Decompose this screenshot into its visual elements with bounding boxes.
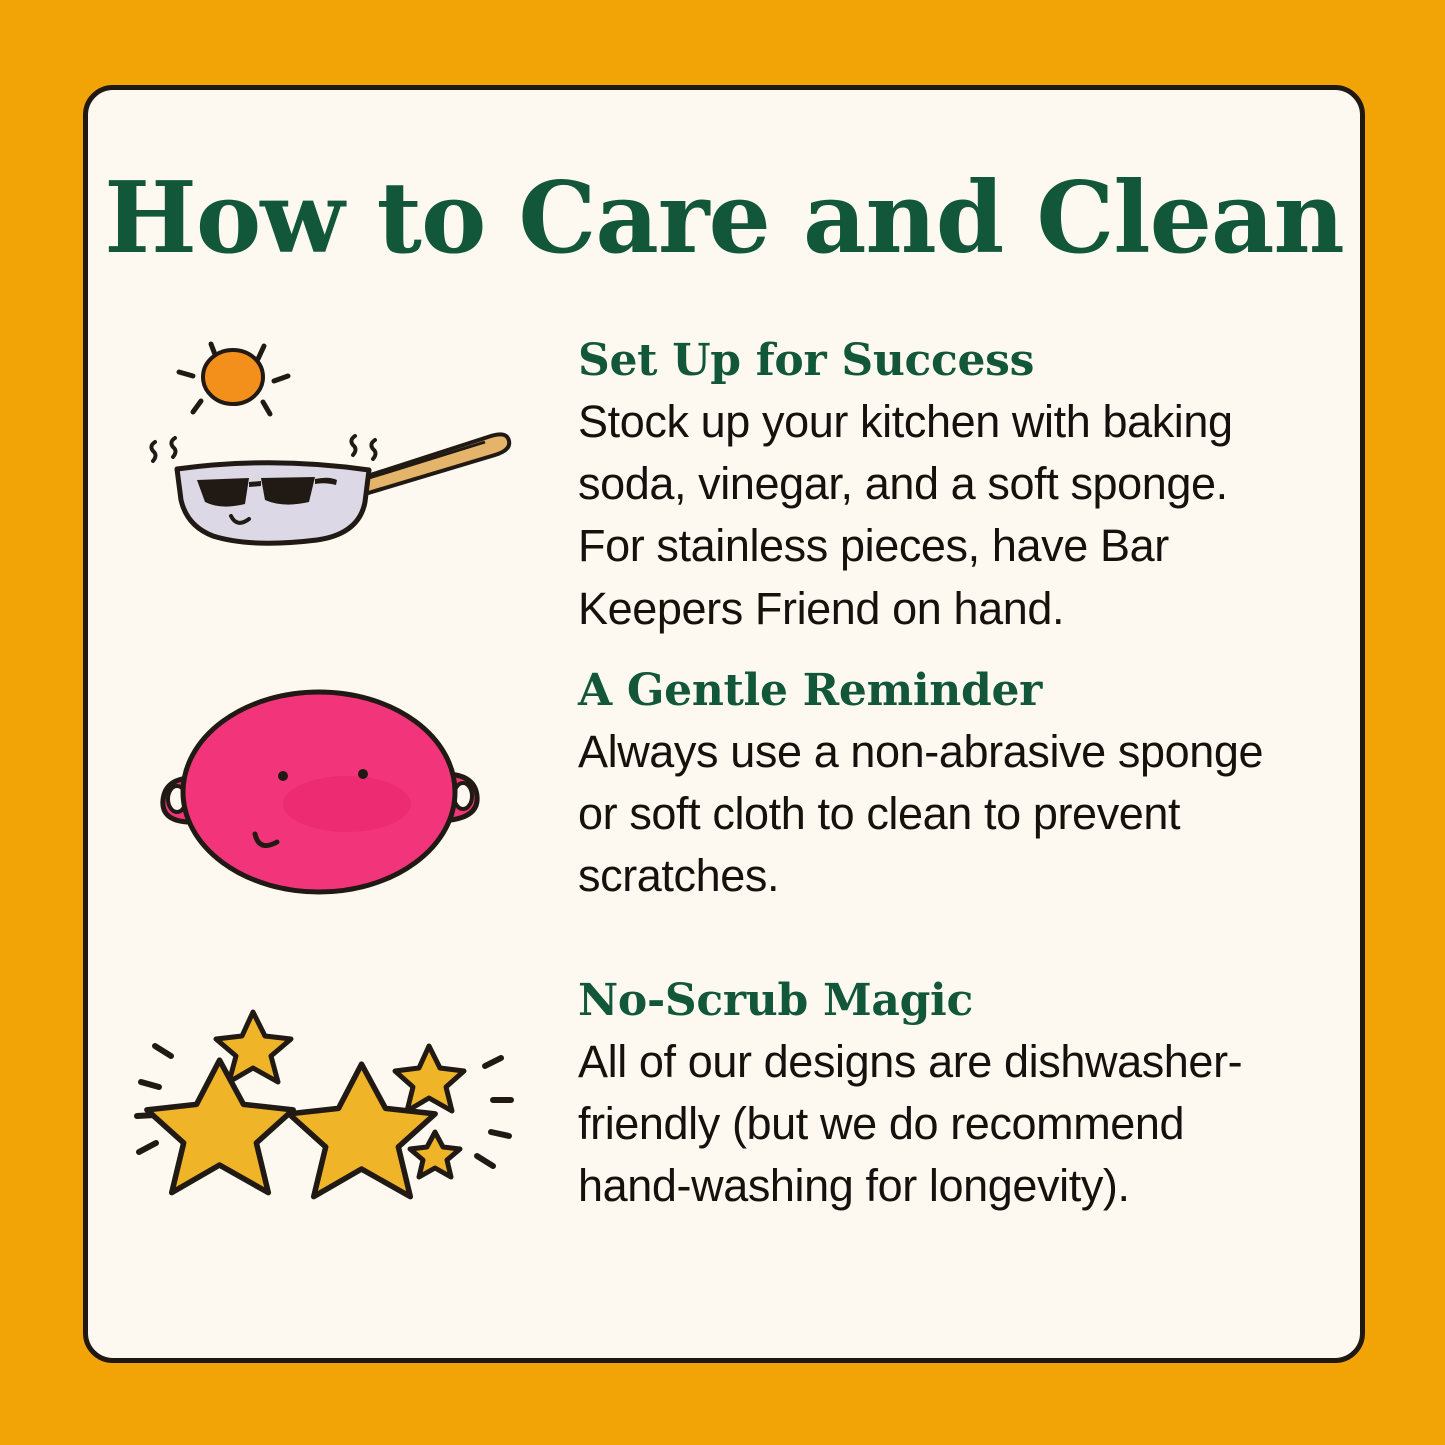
illustration-stars — [88, 970, 578, 1214]
section-heading: A Gentle Reminder — [578, 666, 1300, 715]
poster-canvas: How to Care and Clean — [0, 0, 1445, 1445]
star-tiny-lower-right-icon — [410, 1132, 460, 1177]
section-body: Stock up your kitchen with baking soda, … — [578, 391, 1300, 639]
sparkle-dashes-left-icon — [137, 1046, 171, 1152]
pan-body-icon — [177, 463, 369, 543]
sparkling-gold-stars-icon — [133, 1004, 533, 1214]
illustration-frying-pan — [88, 330, 578, 580]
pot-eye-left-icon — [278, 771, 288, 781]
section-copy: Set Up for Success Stock up your kitchen… — [578, 330, 1360, 640]
star-small-upper-right-icon — [395, 1046, 464, 1111]
section-body: All of our designs are dishwasher-friend… — [578, 1031, 1300, 1217]
page-title: How to Care and Clean — [88, 168, 1360, 271]
pink-oval-pot-with-face-icon — [133, 666, 533, 916]
section-copy: A Gentle Reminder Always use a non-abras… — [578, 660, 1360, 908]
list-item: Set Up for Success Stock up your kitchen… — [88, 330, 1360, 640]
care-instruction-list: Set Up for Success Stock up your kitchen… — [88, 330, 1360, 1260]
section-heading: No-Scrub Magic — [578, 976, 1300, 1025]
steam-squiggle-right-icon — [351, 436, 375, 459]
section-copy: No-Scrub Magic All of our designs are di… — [578, 970, 1360, 1218]
content-card: How to Care and Clean — [83, 85, 1365, 1363]
list-item: A Gentle Reminder Always use a non-abras… — [88, 660, 1360, 950]
sun-disc-icon — [203, 350, 263, 404]
pan-handle-icon — [355, 434, 509, 494]
illustration-pink-pot — [88, 660, 578, 916]
list-item: No-Scrub Magic All of our designs are di… — [88, 970, 1360, 1260]
pot-eye-right-icon — [358, 769, 368, 779]
frying-pan-with-sunglasses-and-sun-icon — [133, 330, 533, 580]
section-heading: Set Up for Success — [578, 336, 1300, 385]
section-body: Always use a non-abrasive sponge or soft… — [578, 721, 1300, 907]
sparkle-dashes-right-icon — [477, 1058, 511, 1166]
steam-squiggle-left-icon — [151, 438, 175, 461]
